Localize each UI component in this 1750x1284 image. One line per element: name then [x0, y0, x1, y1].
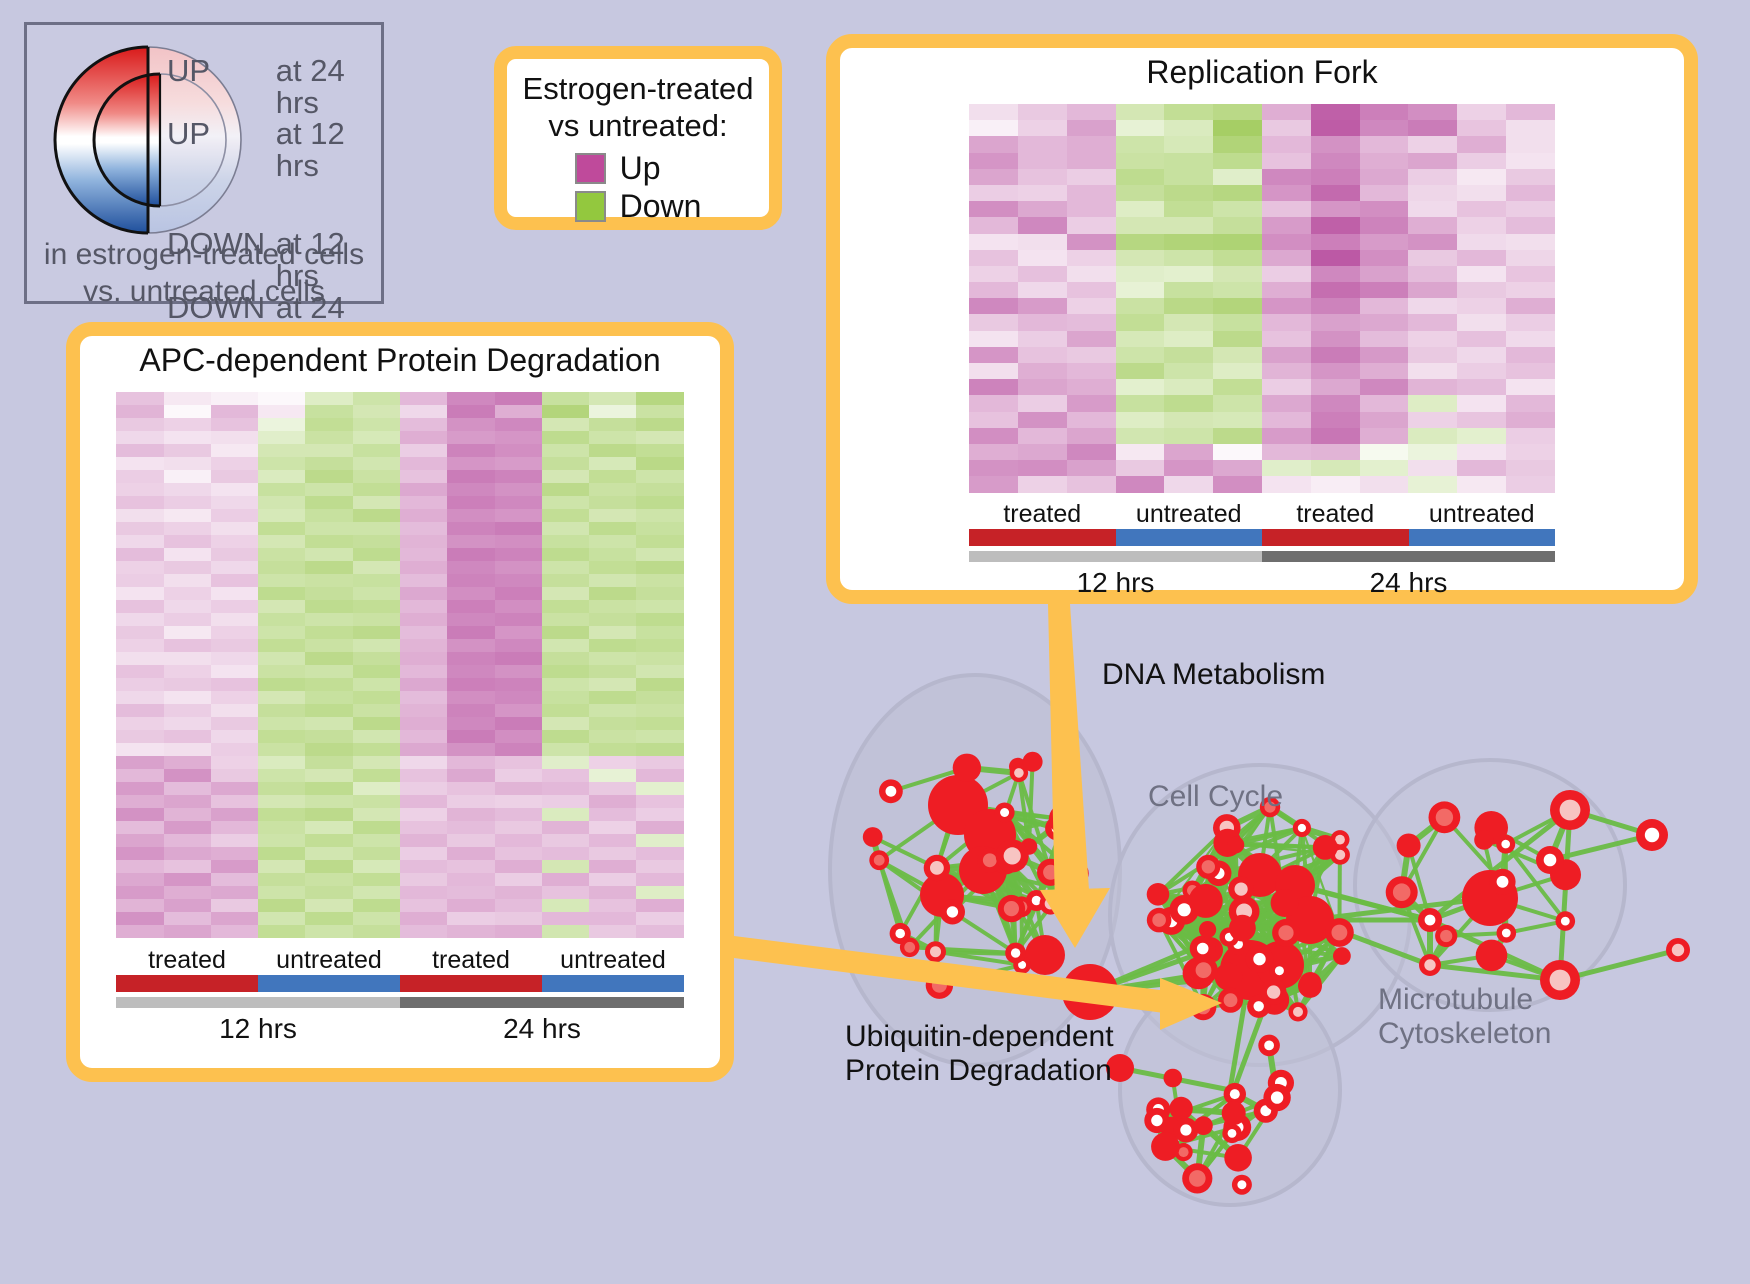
heatmap-cell	[116, 691, 163, 704]
heatmap-cell	[495, 730, 542, 743]
heatmap-cell	[1360, 201, 1409, 217]
heatmap-cell	[1408, 331, 1457, 347]
heatmap-cell	[1506, 234, 1555, 250]
heatmap-cell	[1506, 217, 1555, 233]
network-node[interactable]	[1025, 935, 1065, 975]
heatmap-cell	[400, 392, 447, 405]
heatmap-cell	[447, 652, 494, 665]
heatmap-cell	[1311, 104, 1360, 120]
heatmap-cell	[969, 250, 1018, 266]
heatmap-cell	[400, 834, 447, 847]
heatmap-cell	[589, 678, 636, 691]
heatmap-cell	[211, 782, 258, 795]
heatmap-cell	[542, 574, 589, 587]
heatmap-cell	[1116, 314, 1165, 330]
heatmap-cell	[1457, 476, 1506, 492]
heatmap-cell	[1213, 201, 1262, 217]
heatmap-cell	[353, 743, 400, 756]
heatmap-cell	[305, 808, 352, 821]
heatmap-cell	[1360, 234, 1409, 250]
heatmap-cell	[1408, 379, 1457, 395]
heatmap-cell	[542, 509, 589, 522]
heatmap-cell	[1164, 379, 1213, 395]
heatmap-cell	[305, 639, 352, 652]
group-label: treated	[969, 500, 1116, 529]
heatmap-cell	[1506, 379, 1555, 395]
heatmap-cell	[116, 756, 163, 769]
heatmap-cell	[305, 574, 352, 587]
heatmap-cell	[1164, 428, 1213, 444]
heatmap-cell	[1164, 282, 1213, 298]
heatmap-cell	[211, 535, 258, 548]
heatmap-cell	[447, 717, 494, 730]
heatmap-container	[840, 104, 1684, 493]
heatmap-cell	[1457, 444, 1506, 460]
heatmap-cell	[542, 613, 589, 626]
heatmap-cell	[258, 470, 305, 483]
heatmap-cell	[305, 717, 352, 730]
network-node[interactable]	[1229, 915, 1256, 942]
heatmap-cell	[1506, 298, 1555, 314]
heatmap-cell	[353, 886, 400, 899]
heatmap-cell	[636, 652, 683, 665]
heatmap-cell	[305, 483, 352, 496]
network-node-core	[1550, 970, 1571, 991]
heatmap-cell	[1164, 395, 1213, 411]
network-node[interactable]	[1062, 964, 1118, 1020]
heatmap-cell	[1408, 314, 1457, 330]
heatmap-cell	[258, 418, 305, 431]
legend-row-value: at 12 hrs	[276, 118, 387, 181]
heatmap-cell	[211, 561, 258, 574]
heatmap-cell	[1457, 460, 1506, 476]
heatmap-cell	[1311, 476, 1360, 492]
heatmap-cell	[1116, 444, 1165, 460]
heatmap-cell	[589, 899, 636, 912]
heatmap-cell	[1311, 201, 1360, 217]
heatmap-cell	[495, 717, 542, 730]
heatmap-cell	[969, 217, 1018, 233]
heatmap-cell	[969, 169, 1018, 185]
heatmap-cell	[542, 626, 589, 639]
heatmap-cell	[353, 925, 400, 938]
heatmap-cell	[400, 496, 447, 509]
network-node[interactable]	[1060, 879, 1087, 906]
heatmap-cell	[1213, 250, 1262, 266]
heatmap-cell	[305, 587, 352, 600]
timepoint-labels: 12 hrs 24 hrs	[969, 567, 1555, 599]
heatmap-cell	[1457, 185, 1506, 201]
network-node-core	[1254, 1001, 1264, 1011]
heatmap-cell	[116, 873, 163, 886]
legend-row: UP at 12 hrs	[167, 118, 387, 181]
heatmap-cell	[116, 730, 163, 743]
heatmap-cell	[164, 808, 211, 821]
heatmap-cell	[1360, 444, 1409, 460]
heatmap-cell	[495, 535, 542, 548]
heatmap-cell	[1457, 201, 1506, 217]
heatmap-cell	[1457, 136, 1506, 152]
heatmap-cell	[305, 756, 352, 769]
heatmap-cell	[636, 847, 683, 860]
heatmap-cell	[400, 782, 447, 795]
heatmap-cell	[495, 587, 542, 600]
network-node-core	[1645, 828, 1659, 842]
heatmap-cell	[447, 444, 494, 457]
heatmap-cell	[1311, 444, 1360, 460]
heatmap-cell	[1164, 266, 1213, 282]
heatmap-cell	[1213, 266, 1262, 282]
network-node[interactable]	[953, 754, 981, 782]
heatmap-cell	[447, 431, 494, 444]
heatmap-cell	[589, 600, 636, 613]
heatmap-cell	[116, 860, 163, 873]
heatmap-cell	[1116, 234, 1165, 250]
heatmap-cell	[447, 847, 494, 860]
heatmap-cell	[400, 678, 447, 691]
heatmap-cell	[211, 405, 258, 418]
heatmap-cell	[1457, 234, 1506, 250]
heatmap-cell	[1262, 234, 1311, 250]
network-node[interactable]	[1227, 836, 1244, 853]
heatmap-axis: treated untreated treated untreated 12 h…	[840, 500, 1684, 599]
treatment-bar-segment	[1116, 529, 1263, 546]
color-swatch-down-icon	[575, 191, 606, 222]
heatmap-cell	[1360, 379, 1409, 395]
heatmap-cell	[636, 431, 683, 444]
heatmap-cell	[1506, 282, 1555, 298]
heatmap-cell	[589, 743, 636, 756]
network-node[interactable]	[1215, 963, 1243, 991]
network-node-core	[1497, 876, 1509, 888]
heatmap-cell	[211, 509, 258, 522]
heatmap-cell	[353, 639, 400, 652]
network-node[interactable]	[1199, 921, 1216, 938]
heatmap-cell	[1067, 250, 1116, 266]
network-node-core	[1237, 1180, 1246, 1189]
heatmap-cell	[969, 104, 1018, 120]
spacer	[167, 181, 387, 228]
heatmap-cell	[1457, 363, 1506, 379]
heatmap-cell	[353, 691, 400, 704]
heatmap-cell	[353, 808, 400, 821]
heatmap-cell	[1262, 282, 1311, 298]
heatmap-cell	[1116, 395, 1165, 411]
heatmap-cell	[1018, 347, 1067, 363]
heatmap-cell	[447, 860, 494, 873]
heatmap-cell	[589, 548, 636, 561]
network-node[interactable]	[1189, 884, 1223, 918]
network-node-core	[1425, 915, 1436, 926]
heatmap-cell	[258, 769, 305, 782]
heatmap-cell	[636, 574, 683, 587]
heatmap-cell	[447, 496, 494, 509]
timepoint-label: 12 hrs	[116, 1013, 400, 1045]
heatmap-cell	[1018, 120, 1067, 136]
heatmap-cell	[1067, 444, 1116, 460]
heatmap-cell	[1262, 363, 1311, 379]
heatmap-cell	[116, 613, 163, 626]
network-node[interactable]	[1222, 1101, 1246, 1125]
heatmap-cell	[258, 535, 305, 548]
network-node[interactable]	[1313, 835, 1338, 860]
heatmap-cell	[1018, 250, 1067, 266]
heatmap-cell	[542, 834, 589, 847]
network-node[interactable]	[1169, 1097, 1192, 1120]
heatmap-cell	[495, 626, 542, 639]
heatmap-cell	[636, 665, 683, 678]
heatmap-cell	[211, 613, 258, 626]
heatmap-cell	[116, 483, 163, 496]
heatmap-cell	[116, 795, 163, 808]
heatmap-cell	[1408, 363, 1457, 379]
heatmap-cell	[211, 834, 258, 847]
heatmap-cell	[211, 847, 258, 860]
heatmap-cell	[1506, 412, 1555, 428]
heatmap-cell	[636, 548, 683, 561]
heatmap-cell	[400, 925, 447, 938]
heatmap-cell	[542, 639, 589, 652]
heatmap-cell	[1457, 282, 1506, 298]
heatmap-cell	[636, 873, 683, 886]
heatmap-cell	[589, 613, 636, 626]
heatmap-cell	[164, 782, 211, 795]
heatmap-cell	[305, 444, 352, 457]
treatment-bar-segment	[1262, 529, 1409, 546]
heatmap-cell	[400, 691, 447, 704]
heatmap-cell	[542, 483, 589, 496]
timepoint-label: 12 hrs	[969, 567, 1262, 599]
heatmap-cell	[1018, 234, 1067, 250]
heatmap-cell	[305, 418, 352, 431]
heatmap-cell	[353, 769, 400, 782]
heatmap-cell	[636, 535, 683, 548]
heatmap-cell	[1262, 314, 1311, 330]
group-label: untreated	[1116, 500, 1263, 529]
network-node[interactable]	[1476, 940, 1508, 972]
heatmap-cell	[400, 418, 447, 431]
network-node-core	[1436, 809, 1453, 826]
heatmap-cell	[542, 795, 589, 808]
heatmap-cell	[542, 756, 589, 769]
heatmap-cell	[969, 347, 1018, 363]
heatmap-cell	[305, 912, 352, 925]
updown-title-line-2: vs untreated:	[523, 108, 754, 145]
heatmap-cell	[353, 613, 400, 626]
network-node[interactable]	[1224, 1144, 1252, 1172]
heatmap-cell	[589, 431, 636, 444]
heatmap-cell	[258, 899, 305, 912]
heatmap-cell	[542, 925, 589, 938]
heatmap-cell	[305, 652, 352, 665]
heatmap-cell	[589, 847, 636, 860]
heatmap-cell	[1018, 185, 1067, 201]
heatmap-cell	[1506, 395, 1555, 411]
heatmap-cell	[447, 613, 494, 626]
heatmap-cell	[305, 431, 352, 444]
heatmap-cell	[969, 282, 1018, 298]
heatmap-cell	[211, 626, 258, 639]
heatmap-cell	[969, 314, 1018, 330]
heatmap-cell	[1018, 412, 1067, 428]
heatmap-cell	[1457, 104, 1506, 120]
heatmap-cell	[1213, 234, 1262, 250]
heatmap-cell	[1164, 298, 1213, 314]
heatmap-cell	[1408, 153, 1457, 169]
network-node-core	[904, 942, 915, 953]
heatmap-cell	[1360, 153, 1409, 169]
heatmap-axis: treated untreated treated untreated 12 h…	[80, 946, 720, 1045]
heatmap-cell	[1360, 314, 1409, 330]
heatmap-cell	[164, 678, 211, 691]
heatmap-cell	[495, 756, 542, 769]
heatmap-cell	[400, 431, 447, 444]
heatmap-cell	[1262, 201, 1311, 217]
heatmap-cell	[447, 626, 494, 639]
network-node[interactable]	[863, 827, 883, 847]
legend-row: UP at 24 hrs	[167, 55, 387, 118]
heatmap-cell	[589, 639, 636, 652]
heatmap-cell	[116, 847, 163, 860]
heatmap-cell	[258, 639, 305, 652]
heatmap-cell	[1116, 476, 1165, 492]
heatmap-cell	[258, 717, 305, 730]
heatmap-cell	[1116, 412, 1165, 428]
heatmap-cell	[400, 860, 447, 873]
heatmap-cell	[1067, 282, 1116, 298]
network-node[interactable]	[1023, 752, 1043, 772]
heatmap-cell	[447, 665, 494, 678]
panel-title: Replication Fork	[840, 54, 1684, 91]
heatmap-cell	[589, 587, 636, 600]
heatmap-cell	[1262, 428, 1311, 444]
heatmap-cell	[636, 743, 683, 756]
heatmap-cell	[116, 925, 163, 938]
network-node[interactable]	[1164, 1069, 1183, 1088]
heatmap-cell	[258, 392, 305, 405]
network-node[interactable]	[1333, 947, 1351, 965]
heatmap-cell	[1408, 120, 1457, 136]
heatmap-cell	[636, 756, 683, 769]
heatmap-cell	[542, 769, 589, 782]
heatmap-cell	[164, 626, 211, 639]
heatmap-cell	[353, 717, 400, 730]
heatmap-cell	[636, 808, 683, 821]
network-node[interactable]	[1397, 834, 1421, 858]
heatmap-cell	[495, 639, 542, 652]
heatmap-cell	[1311, 234, 1360, 250]
heatmap-cell	[1116, 298, 1165, 314]
network-node-core	[1502, 929, 1511, 938]
heatmap-cell	[1408, 217, 1457, 233]
network-node-core	[1152, 913, 1166, 927]
heatmap-cell	[447, 769, 494, 782]
heatmap-cell	[258, 834, 305, 847]
timepoint-color-bar	[116, 997, 684, 1008]
heatmap-cell	[447, 678, 494, 691]
legend-item-up: Up	[575, 150, 702, 187]
heatmap-cell	[495, 678, 542, 691]
heatmap-cell	[969, 266, 1018, 282]
heatmap-cell	[164, 470, 211, 483]
heatmap-cell	[1360, 347, 1409, 363]
heatmap-cell	[495, 743, 542, 756]
heatmap-cell	[969, 363, 1018, 379]
heatmap-cell	[969, 153, 1018, 169]
heatmap-cell	[353, 509, 400, 522]
heatmap-cell	[116, 652, 163, 665]
heatmap-cell	[1213, 169, 1262, 185]
heatmap-cell	[116, 522, 163, 535]
heatmap-cell	[400, 548, 447, 561]
network-node-core	[932, 978, 947, 993]
heatmap-cell	[1506, 201, 1555, 217]
heatmap-cell	[636, 418, 683, 431]
network-node[interactable]	[1147, 883, 1170, 906]
heatmap-cell	[1311, 395, 1360, 411]
heatmap-cell	[447, 639, 494, 652]
heatmap-cell	[353, 587, 400, 600]
heatmap-cell	[1506, 428, 1555, 444]
heatmap-container	[80, 392, 720, 938]
heatmap-cell	[589, 795, 636, 808]
heatmap-cell	[1262, 412, 1311, 428]
heatmap-cell	[636, 405, 683, 418]
network-node-core	[930, 946, 941, 957]
heatmap-cell	[495, 574, 542, 587]
heatmap-cell	[1018, 476, 1067, 492]
heatmap-cell	[305, 509, 352, 522]
heatmap-cell	[116, 587, 163, 600]
heatmap-cell	[400, 561, 447, 574]
heatmap-cell	[1067, 363, 1116, 379]
heatmap-cell	[447, 925, 494, 938]
heatmap-cell	[447, 561, 494, 574]
heatmap-cell	[969, 476, 1018, 492]
group-label: untreated	[258, 946, 400, 975]
network-node-core	[1056, 811, 1072, 827]
heatmap-cell	[1506, 460, 1555, 476]
heatmap-cell	[495, 834, 542, 847]
heatmap-cell	[116, 678, 163, 691]
heatmap-cell	[305, 886, 352, 899]
heatmap-cell	[1213, 347, 1262, 363]
heatmap-cell	[636, 899, 683, 912]
heatmap-cell	[495, 665, 542, 678]
heatmap-cell	[1506, 363, 1555, 379]
heatmap-cell	[353, 470, 400, 483]
network-node-core	[1179, 1147, 1189, 1157]
network-node[interactable]	[1299, 972, 1321, 994]
network-node-core	[1189, 1170, 1206, 1187]
heatmap-cell	[636, 613, 683, 626]
heatmap-cell	[636, 704, 683, 717]
heatmap-cell	[589, 665, 636, 678]
heatmap-cell	[542, 548, 589, 561]
heatmap-cell	[969, 379, 1018, 395]
network-node[interactable]	[1474, 830, 1494, 850]
heatmap-cell	[258, 782, 305, 795]
heatmap-cell	[164, 769, 211, 782]
heatmap-cell	[1067, 314, 1116, 330]
heatmap-cell	[1311, 250, 1360, 266]
heatmap-cell	[1262, 379, 1311, 395]
heatmap-cell	[400, 704, 447, 717]
heatmap-cell	[164, 652, 211, 665]
heatmap-cell	[1164, 136, 1213, 152]
network-node[interactable]	[1271, 889, 1299, 917]
heatmap-cell	[636, 457, 683, 470]
